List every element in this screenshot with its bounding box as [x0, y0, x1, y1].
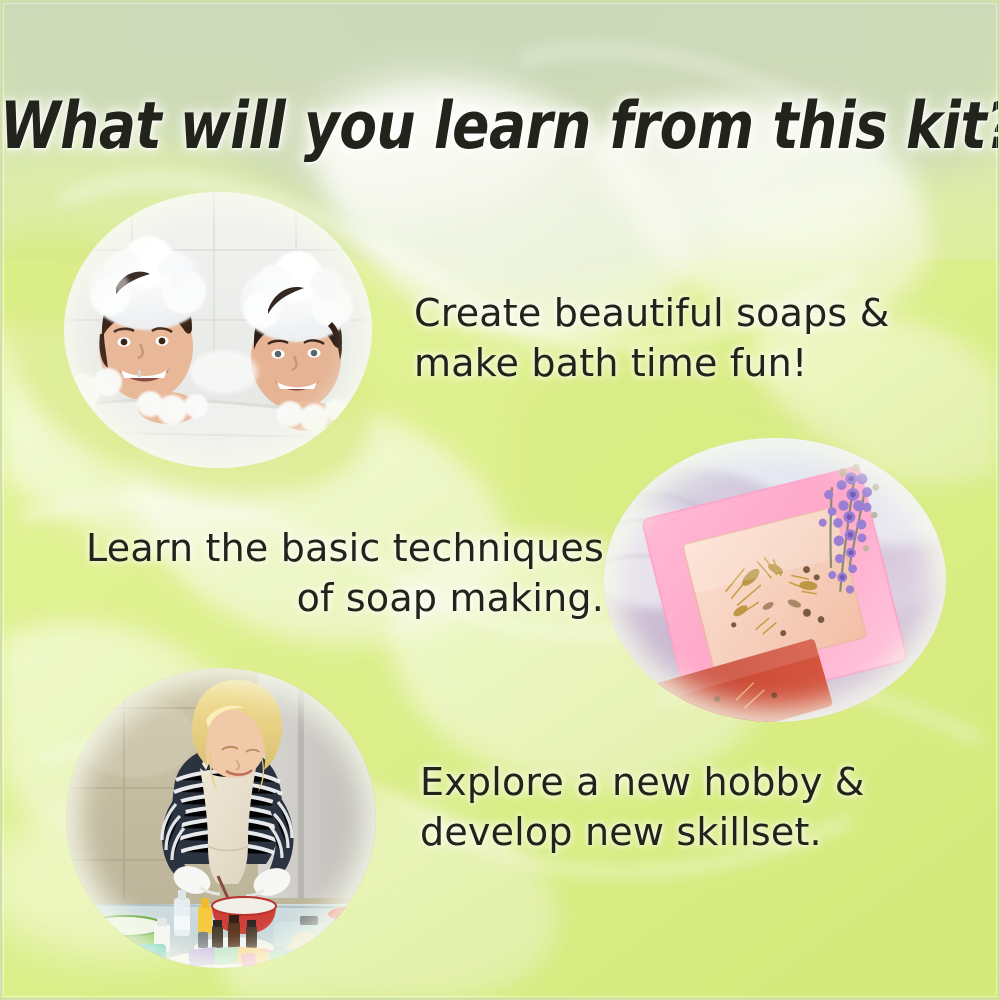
- benefit-text-1: Create beautiful soaps & make bath time …: [414, 288, 934, 388]
- woman-making-soap-photo: [66, 668, 376, 968]
- benefit-text-3: Explore a new hobby & develop new skills…: [420, 757, 920, 857]
- kids-bathtub-photo: [64, 192, 372, 468]
- benefit-text-2: Learn the basic techniques of soap makin…: [44, 523, 604, 623]
- poster-canvas: What will you learn from this kit?: [0, 0, 1000, 1000]
- soap-mold-photo: [604, 438, 946, 722]
- page-title: What will you learn from this kit?: [0, 88, 1000, 164]
